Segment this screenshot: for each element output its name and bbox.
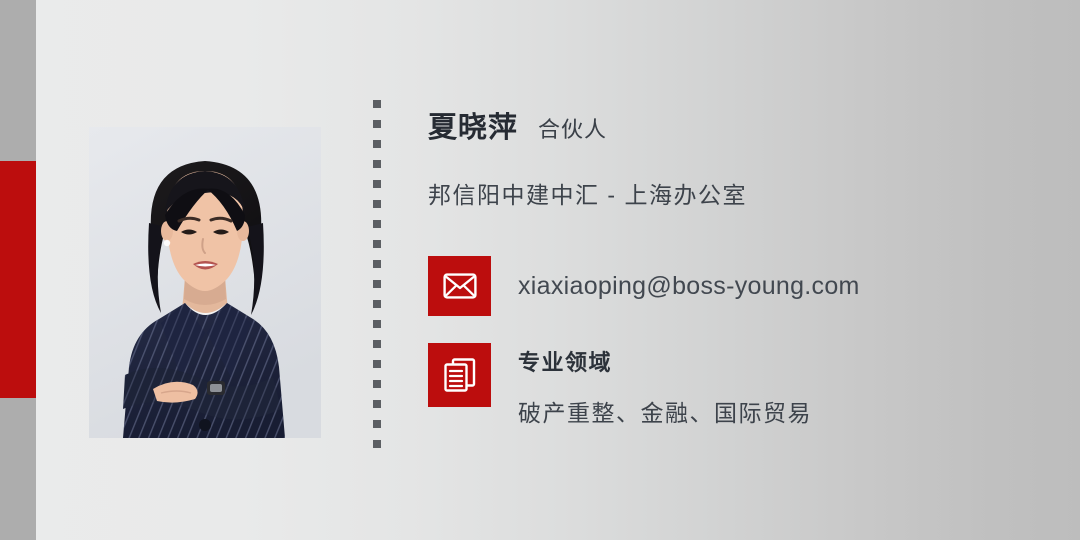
email-address[interactable]: xiaxiaoping@boss-young.com xyxy=(518,272,860,301)
practice-text-block: 专业领域 破产重整、金融、国际贸易 xyxy=(518,343,812,428)
portrait-photo xyxy=(89,127,321,438)
envelope-icon xyxy=(428,256,491,316)
practice-row: 专业领域 破产重整、金融、国际贸易 xyxy=(428,343,1028,428)
profile-info: 夏晓萍 合伙人 邦信阳中建中汇 - 上海办公室 xiaxiaoping@boss… xyxy=(428,104,1028,428)
lawyer-role: 合伙人 xyxy=(538,112,607,144)
documents-icon xyxy=(428,343,491,407)
left-edge-accent-bar xyxy=(0,161,36,398)
lawyer-profile-card: 夏晓萍 合伙人 邦信阳中建中汇 - 上海办公室 xiaxiaoping@boss… xyxy=(0,0,1080,540)
email-row[interactable]: xiaxiaoping@boss-young.com xyxy=(428,256,1028,316)
name-row: 夏晓萍 合伙人 xyxy=(428,104,1028,150)
firm-office: 邦信阳中建中汇 - 上海办公室 xyxy=(428,176,1028,210)
practice-areas: 破产重整、金融、国际贸易 xyxy=(518,394,812,428)
lawyer-name: 夏晓萍 xyxy=(428,104,518,146)
practice-title: 专业领域 xyxy=(518,350,612,375)
dotted-divider xyxy=(373,100,381,450)
